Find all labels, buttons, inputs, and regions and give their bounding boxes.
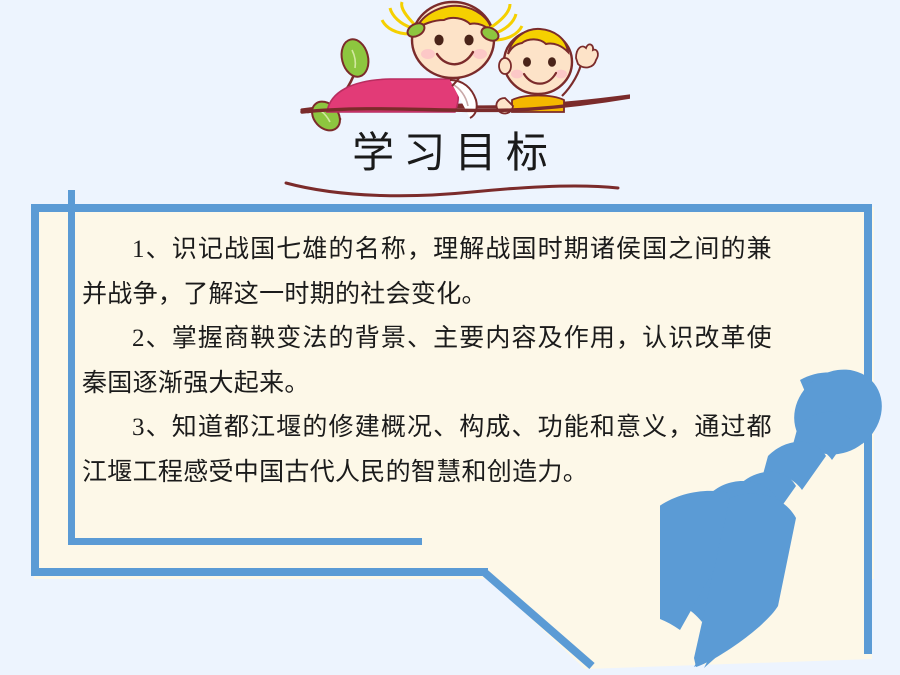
objective-item-1: 1、识记战国七雄的名称，理解战国时期诸侯国之间的兼并战争，了解这一时期的社会变化…: [82, 228, 772, 317]
inner-frame-bottom: [68, 538, 422, 545]
frame-top: [31, 204, 872, 212]
inner-frame-left: [68, 190, 75, 545]
slide-canvas: 学习目标 1、识记战国七雄的名称，理解战国时期诸侯国之间的兼并战争，了解这一时期…: [0, 0, 900, 675]
blue-crayon-icon: [660, 368, 900, 675]
frame-left: [31, 204, 39, 568]
two-children-illustration: [300, 0, 630, 150]
frame-bottom: [31, 568, 488, 576]
leaf-icon: [338, 36, 372, 79]
